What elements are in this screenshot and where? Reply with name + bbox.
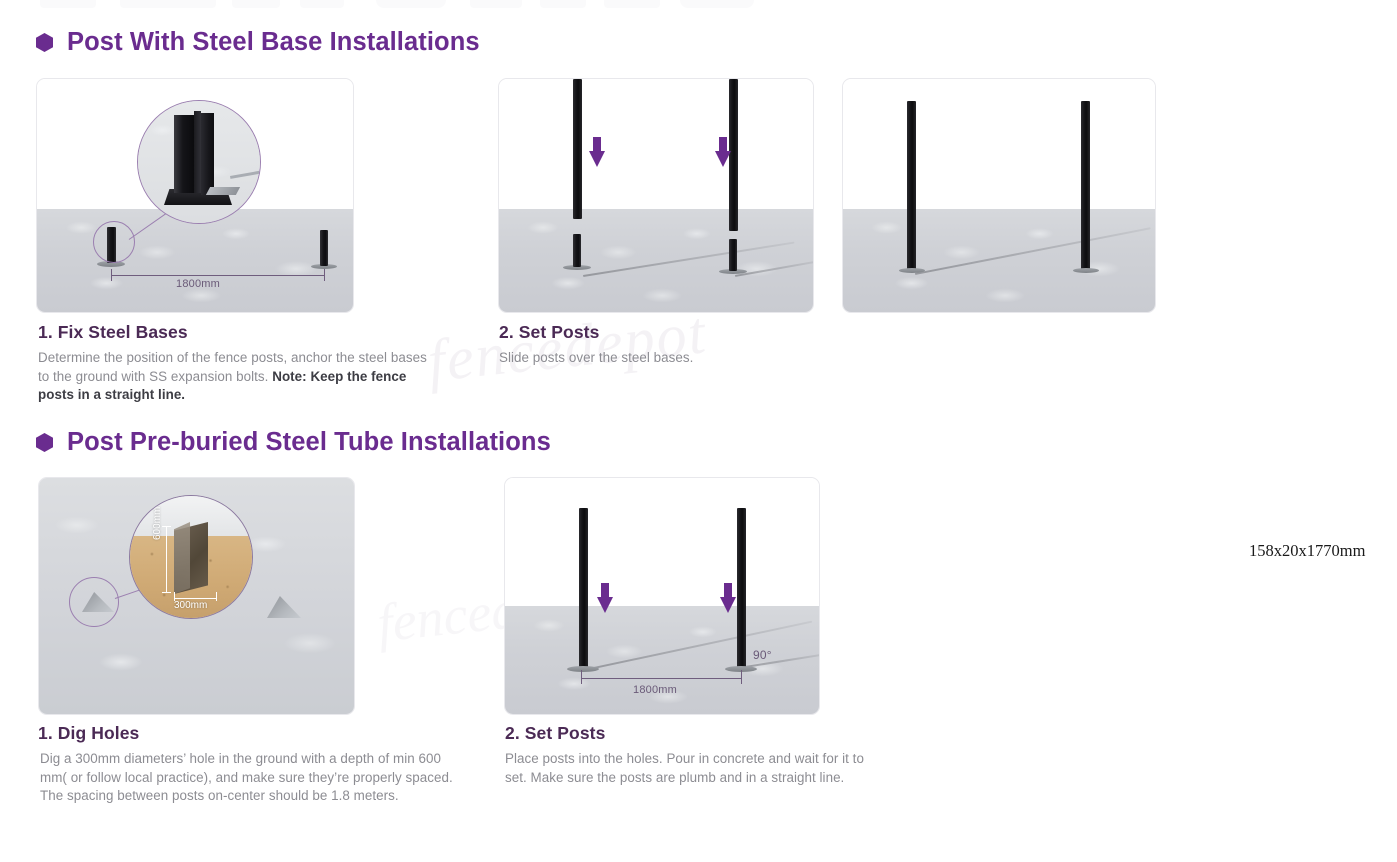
illustration-scene: 90° 1800mm bbox=[505, 478, 819, 714]
dimension-line-diameter bbox=[174, 598, 216, 599]
post-left bbox=[573, 79, 582, 219]
figure-set-posts-in-holes: 90° 1800mm bbox=[504, 477, 820, 715]
hexagon-bullet-icon bbox=[36, 33, 53, 52]
dimension-tick-depth-top bbox=[162, 526, 171, 527]
scene-ground bbox=[505, 606, 819, 714]
step-title-dig-holes: 1. Dig Holes bbox=[38, 723, 139, 744]
dimension-line-depth bbox=[166, 526, 167, 592]
post-left bbox=[907, 101, 916, 271]
arrow-down-left-icon bbox=[589, 137, 605, 167]
section-heading-steel-base: Post With Steel Base Installations bbox=[36, 28, 480, 57]
hexagon-bullet-icon bbox=[36, 433, 53, 452]
post-right bbox=[1081, 101, 1090, 271]
illustration-scene: 1800mm bbox=[37, 79, 353, 312]
scene-sky bbox=[499, 79, 813, 209]
step-title-set-posts-holes: 2. Set Posts bbox=[505, 723, 605, 744]
steel-base-stub-right bbox=[729, 239, 737, 271]
dimension-label-angle: 90° bbox=[753, 648, 772, 662]
arrow-down-right-icon bbox=[720, 583, 736, 613]
step-body-set-posts-holes: Place posts into the holes. Pour in conc… bbox=[505, 750, 877, 787]
dimension-tick-depth-bottom bbox=[162, 592, 171, 593]
concrete-collar-left bbox=[567, 666, 599, 672]
dimension-line-spacing bbox=[581, 678, 741, 679]
dimension-label-diameter: 300mm bbox=[174, 600, 207, 611]
dimension-line-spacing bbox=[111, 275, 324, 276]
top-clipped-strip bbox=[0, 0, 1397, 14]
step-title-set-posts: 2. Set Posts bbox=[499, 322, 599, 343]
steel-base-stub-left bbox=[573, 234, 581, 267]
scene-ground bbox=[843, 209, 1155, 312]
scene-ground bbox=[499, 209, 813, 312]
magnifier-detail-circle: 600mm 300mm bbox=[129, 495, 253, 619]
step-body-set-posts: Slide posts over the steel bases. bbox=[499, 349, 879, 368]
figure-fix-steel-bases: 1800mm bbox=[36, 78, 354, 313]
dimension-label-spacing: 1800mm bbox=[176, 278, 220, 290]
magnified-post-channel-front bbox=[174, 115, 194, 193]
figure-set-posts-over-bases bbox=[498, 78, 814, 313]
magnified-plate-edge-highlight bbox=[206, 187, 240, 195]
magnified-post-channel-back bbox=[201, 113, 214, 195]
magnified-post-channel-gap bbox=[194, 111, 201, 193]
dimension-tick-right bbox=[741, 670, 742, 684]
cross-section-hole-wall bbox=[174, 522, 190, 594]
section-title-text: Post With Steel Base Installations bbox=[67, 28, 480, 57]
illustration-scene bbox=[499, 79, 813, 312]
illustration-scene bbox=[843, 79, 1155, 312]
dimension-tick-right bbox=[324, 269, 325, 281]
step-title-fix-steel-bases: 1. Fix Steel Bases bbox=[38, 322, 188, 343]
dimension-label-spacing: 1800mm bbox=[633, 684, 677, 696]
post-right bbox=[737, 508, 746, 668]
section-title-text: Post Pre-buried Steel Tube Installations bbox=[67, 428, 551, 457]
section-heading-pre-buried: Post Pre-buried Steel Tube Installations bbox=[36, 428, 551, 457]
magnifier-detail-circle bbox=[137, 100, 261, 224]
scene-ground bbox=[37, 209, 353, 312]
spec-dimensions-label: 158x20x1770mm bbox=[1249, 541, 1365, 561]
dimension-label-depth: 600mm bbox=[152, 507, 163, 540]
figure-dig-holes: 600mm 300mm bbox=[38, 477, 355, 715]
dimension-tick-diameter-right bbox=[216, 592, 217, 601]
steel-base-stub-right bbox=[320, 230, 328, 266]
step-body-fix-steel-bases: Determine the position of the fence post… bbox=[38, 349, 436, 405]
scene-sky bbox=[505, 478, 819, 606]
arrow-down-right-icon bbox=[715, 137, 731, 167]
dimension-tick-left bbox=[581, 670, 582, 684]
figure-posts-installed bbox=[842, 78, 1156, 313]
step-body-dig-holes: Dig a 300mm diameters’ hole in the groun… bbox=[40, 750, 460, 806]
magnifier-source-circle bbox=[93, 221, 135, 263]
magnifier-source-circle bbox=[69, 577, 119, 627]
arrow-down-left-icon bbox=[597, 583, 613, 613]
illustration-scene: 600mm 300mm bbox=[39, 478, 354, 714]
base-plate-left bbox=[899, 268, 925, 273]
base-plate-right bbox=[1073, 268, 1099, 273]
post-left bbox=[579, 508, 588, 668]
scene-sky bbox=[843, 79, 1155, 209]
